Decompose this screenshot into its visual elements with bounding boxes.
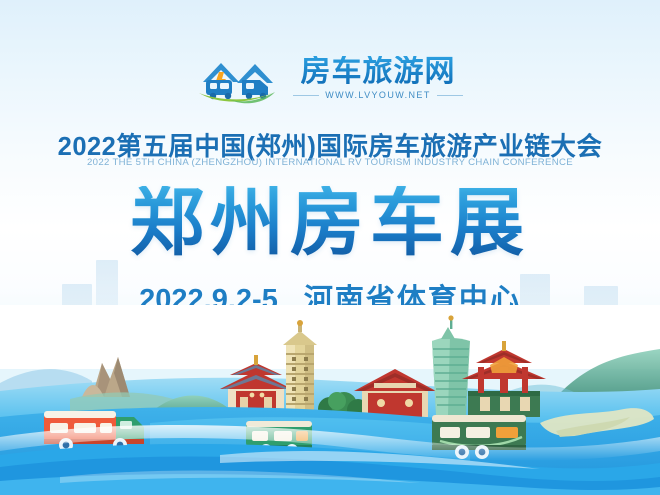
logo-url: WWW.LVYOUW.NET [325, 90, 430, 100]
henan-museum-hall [354, 369, 436, 417]
logo-rule-left [293, 95, 319, 96]
conference-title-en: 2022 THE 5TH CHINA (ZHENGZHOU) INTERNATI… [0, 157, 660, 168]
logo-url-row: WWW.LVYOUW.NET [293, 90, 462, 100]
event-poster: 房车旅游网 WWW.LVYOUW.NET 2022第五届中国(郑州)国际房车旅游… [0, 0, 660, 495]
event-headline: 郑州房车展 [0, 186, 660, 260]
rv-house-logo-icon [197, 52, 283, 104]
logo-rule-right [437, 95, 463, 96]
scene-svg [0, 305, 660, 495]
site-logo[interactable]: 房车旅游网 WWW.LVYOUW.NET [0, 52, 660, 104]
logo-name-cn: 房车旅游网 [301, 56, 456, 88]
logo-text: 房车旅游网 WWW.LVYOUW.NET [293, 56, 462, 101]
landmark-illustration [0, 305, 660, 495]
